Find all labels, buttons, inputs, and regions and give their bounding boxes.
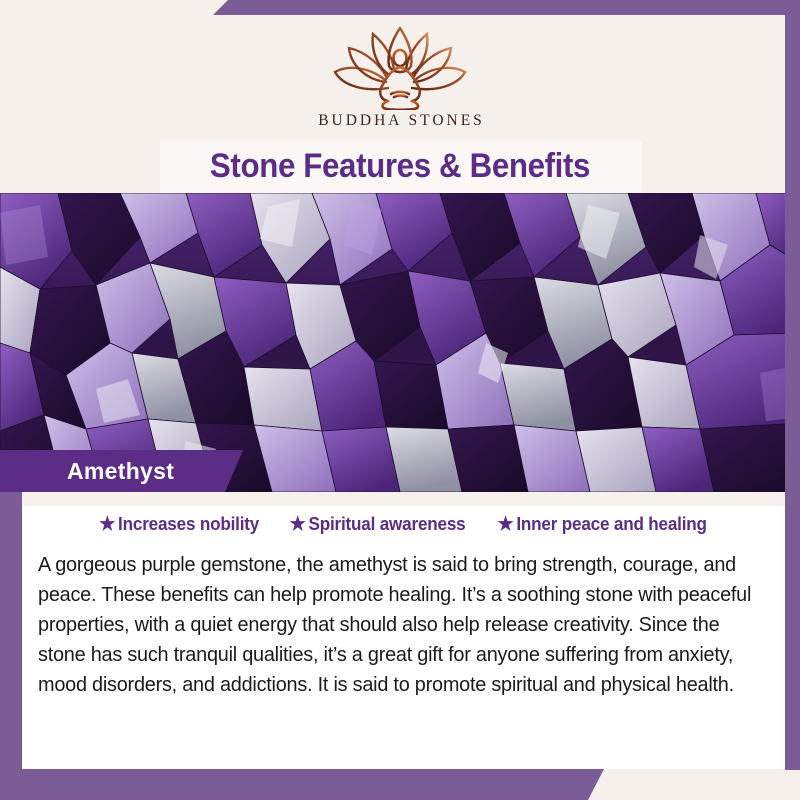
benefit-label: Increases nobility (118, 514, 259, 535)
amethyst-crystal-cluster-icon (0, 193, 800, 492)
benefit-label: Spiritual awareness (308, 514, 465, 535)
lotus-meditation-icon (325, 22, 475, 110)
frame-top-bar (213, 0, 800, 15)
benefit-item: ★ Increases nobility (99, 514, 259, 535)
brand-name: BUDDHA STONES (315, 112, 485, 130)
brand-logo: BUDDHA STONES (0, 22, 800, 130)
benefit-label: Inner peace and healing (516, 514, 706, 535)
star-icon: ★ (99, 515, 115, 534)
infographic-card: BUDDHA STONES Stone Features & Benefits (0, 0, 800, 800)
panel-top-strip (22, 492, 785, 506)
star-icon: ★ (290, 515, 306, 534)
hero-image (0, 193, 800, 492)
star-icon: ★ (498, 515, 514, 534)
frame-left-bar (0, 492, 22, 800)
stone-description: A gorgeous purple gemstone, the amethyst… (38, 550, 756, 700)
frame-right-bar (785, 0, 800, 770)
frame-bottom-bar (0, 769, 604, 800)
benefits-list: ★ Increases nobility ★ Spiritual awarene… (22, 514, 785, 535)
page-title: Stone Features & Benefits (32, 142, 768, 190)
benefit-item: ★ Spiritual awareness (290, 514, 466, 535)
stone-name-label: Amethyst (67, 458, 174, 485)
stone-name-banner: Amethyst (0, 450, 243, 492)
content-panel: ★ Increases nobility ★ Spiritual awarene… (22, 492, 785, 769)
benefit-item: ★ Inner peace and healing (498, 514, 707, 535)
